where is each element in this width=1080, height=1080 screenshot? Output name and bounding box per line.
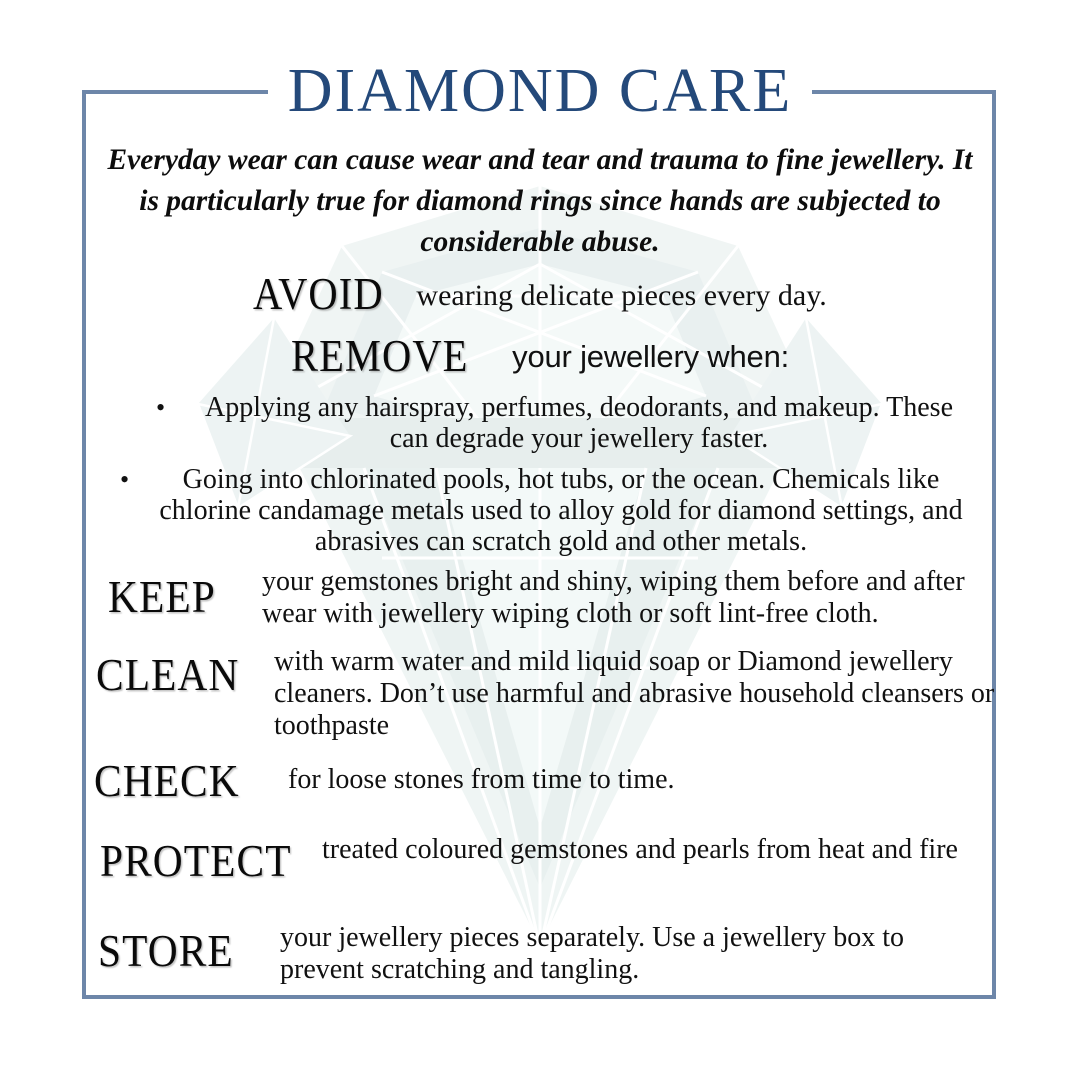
list-item: • Going into chlorinated pools, hot tubs…	[120, 464, 980, 557]
list-item-text: Applying any hairspray, perfumes, deodor…	[178, 392, 980, 454]
tip-row-store: STORE your jewellery pieces separately. …	[98, 922, 988, 986]
remove-text: your jewellery when:	[512, 339, 789, 374]
tip-row-check: CHECK for loose stones from time to time…	[94, 752, 994, 804]
tip-keyword-store: STORE	[98, 922, 251, 974]
remove-bullet-list: • Applying any hairspray, perfumes, deod…	[120, 392, 980, 567]
avoid-keyword: AVOID	[253, 268, 384, 320]
tip-keyword-protect: PROTECT	[100, 834, 300, 884]
list-item-text: Going into chlorinated pools, hot tubs, …	[142, 464, 980, 557]
tip-text-keep: your gemstones bright and shiny, wiping …	[258, 566, 984, 630]
list-item: • Applying any hairspray, perfumes, deod…	[120, 392, 980, 454]
diamond-care-infographic: DIAMOND CARE Everyday wear can cause wea…	[0, 0, 1080, 1080]
page-title: DIAMOND CARE	[0, 60, 1080, 122]
tip-row-clean: CLEAN with warm water and mild liquid so…	[96, 646, 996, 742]
content-area: DIAMOND CARE Everyday wear can cause wea…	[0, 0, 1080, 1080]
tip-keyword-keep: KEEP	[108, 566, 243, 620]
bullet-dot-icon: •	[120, 464, 142, 495]
tip-row-keep: KEEP your gemstones bright and shiny, wi…	[108, 566, 984, 630]
tip-text-check: for loose stones from time to time.	[280, 752, 994, 796]
avoid-text: wearing delicate pieces every day.	[416, 279, 826, 312]
avoid-line: AVOID wearing delicate pieces every day.	[0, 268, 1080, 320]
tip-text-protect: treated coloured gemstones and pearls fr…	[322, 834, 990, 866]
tip-keyword-clean: CLEAN	[96, 646, 256, 698]
tip-keyword-check: CHECK	[94, 752, 261, 804]
remove-keyword: REMOVE	[291, 330, 468, 382]
tip-row-protect: PROTECT treated coloured gemstones and p…	[100, 834, 990, 884]
remove-line: REMOVE your jewellery when:	[0, 330, 1080, 382]
tip-text-clean: with warm water and mild liquid soap or …	[274, 646, 996, 742]
tip-text-store: your jewellery pieces separately. Use a …	[268, 922, 988, 986]
intro-paragraph: Everyday wear can cause wear and tear an…	[96, 140, 984, 263]
bullet-dot-icon: •	[156, 392, 178, 423]
